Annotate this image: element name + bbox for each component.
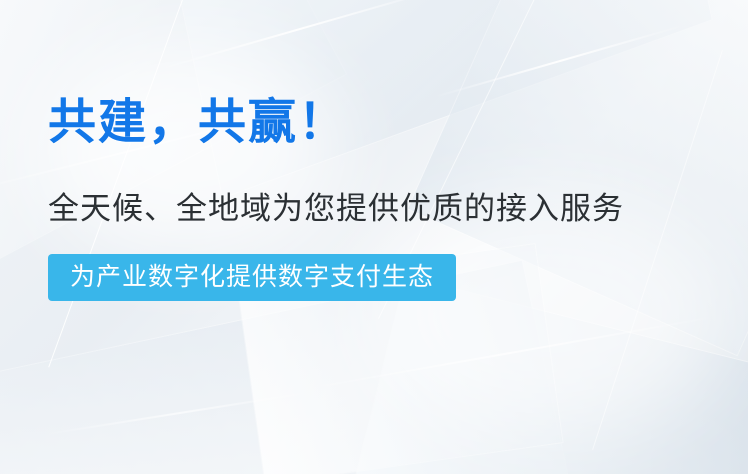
background-plane-5 — [343, 277, 748, 474]
background-streak-4 — [303, 316, 717, 391]
banner-tagline-badge: 为产业数字化提供数字支付生态 — [48, 254, 456, 302]
background-streak-2 — [435, 24, 685, 98]
promo-banner: 共建，共赢！ 全天候、全地域为您提供优质的接入服务 为产业数字化提供数字支付生态 — [0, 0, 748, 474]
banner-tagline-container: 为产业数字化提供数字支付生态 — [48, 254, 708, 302]
banner-content: 共建，共赢！ 全天候、全地域为您提供优质的接入服务 为产业数字化提供数字支付生态 — [48, 96, 708, 301]
banner-subheadline: 全天候、全地域为您提供优质的接入服务 — [48, 191, 708, 228]
background-streak-1 — [156, 0, 445, 71]
background-streak-5 — [42, 390, 319, 436]
banner-headline: 共建，共赢！ — [48, 96, 708, 149]
